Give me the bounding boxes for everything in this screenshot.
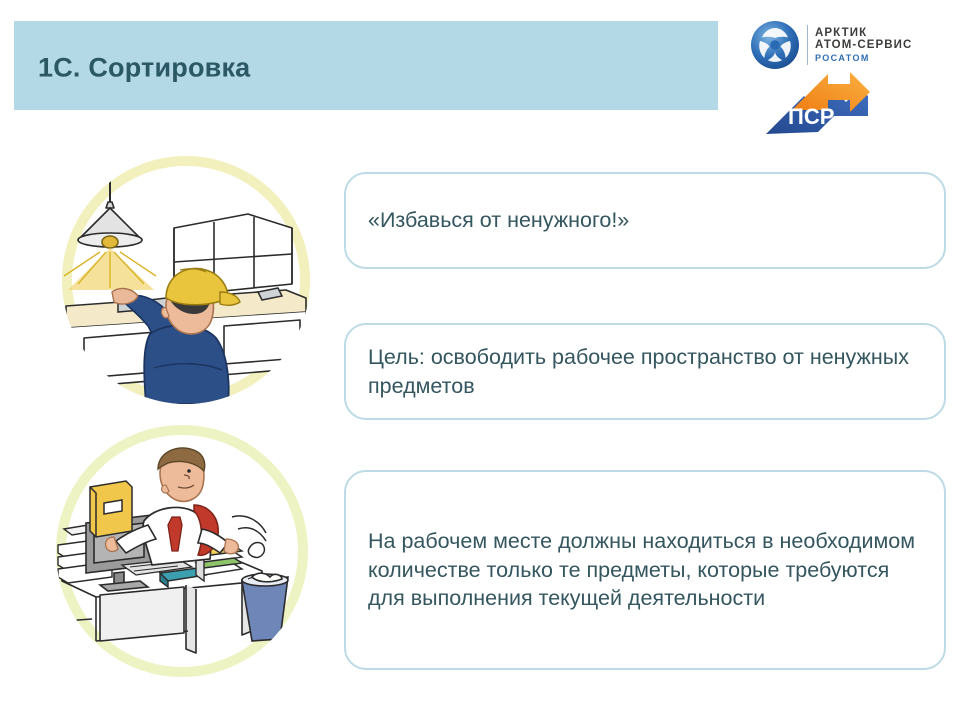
rosatom-line-3: РОСАТОМ	[815, 53, 912, 63]
worker-scene-icon	[62, 156, 310, 404]
page-title: 1С. Сортировка	[38, 52, 250, 83]
office-desk-scene-icon	[56, 425, 308, 677]
rosatom-wordmark: АРКТИК АТОМ-СЕРВИС РОСАТОМ	[815, 27, 912, 64]
logo-block: АРКТИК АТОМ-СЕРВИС РОСАТОМ ПСР	[742, 12, 952, 140]
svg-text:ПСР: ПСР	[788, 104, 834, 129]
worker-reaching-for-tools-illustration	[62, 156, 310, 404]
rosatom-line-2: АТОМ-СЕРВИС	[815, 39, 912, 52]
logo-divider	[807, 25, 808, 65]
office-clutter-desk-illustration	[56, 425, 308, 677]
rosatom-atom-emblem-icon	[750, 20, 800, 70]
callout-box-1: «Избавься от ненужного!»	[344, 172, 946, 269]
callout-box-3: На рабочем месте должны находиться в нео…	[344, 470, 946, 670]
callout-box-2: Цель: освободить рабочее пространство от…	[344, 323, 946, 420]
title-banner: 1С. Сортировка	[14, 21, 718, 110]
callout-text-3: На рабочем месте должны находиться в нео…	[368, 527, 924, 613]
rosatom-logo: АРКТИК АТОМ-СЕРВИС РОСАТОМ	[750, 20, 912, 70]
rosatom-line-1: АРКТИК	[815, 27, 912, 40]
callout-text-1: «Избавься от ненужного!»	[368, 206, 629, 235]
psr-arrow-icon: ПСР	[764, 70, 884, 138]
psr-arrow-logo: ПСР	[764, 70, 884, 138]
callout-text-2: Цель: освободить рабочее пространство от…	[368, 343, 924, 400]
